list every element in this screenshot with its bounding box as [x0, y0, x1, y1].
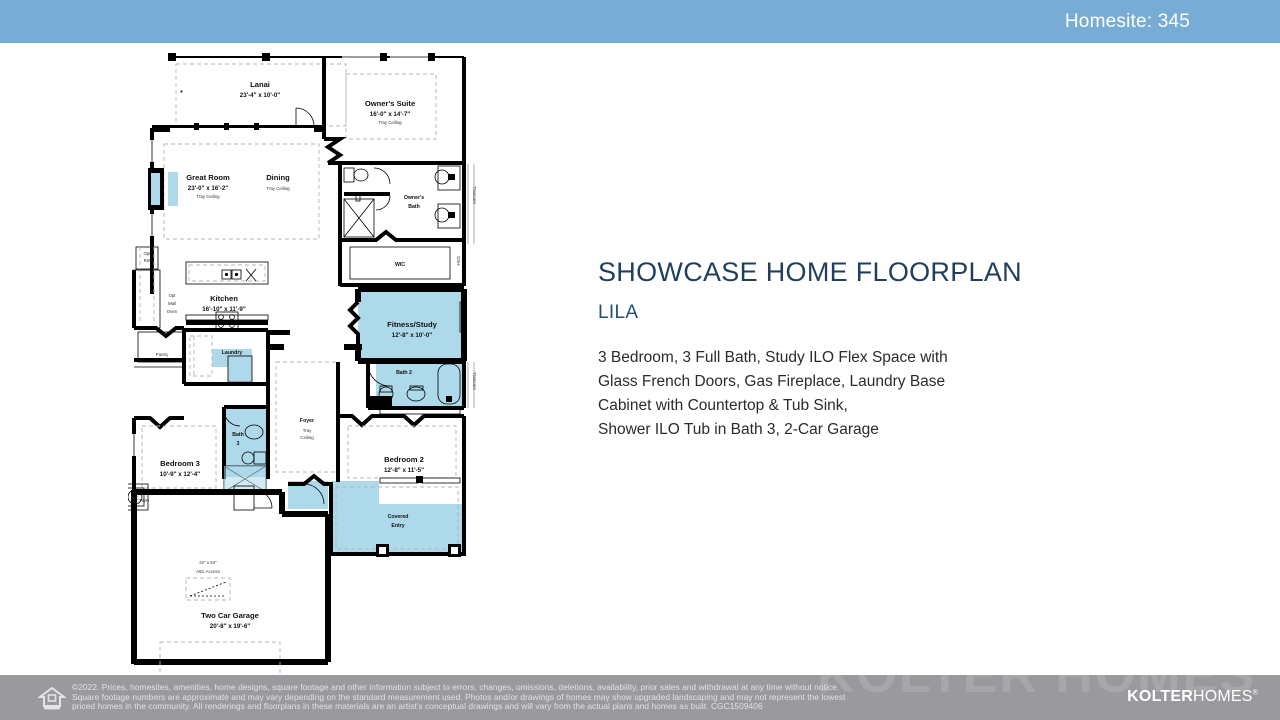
- room-label-bath2: Bath 2: [396, 370, 412, 376]
- opt-oven-label-3: Oven: [167, 309, 178, 314]
- room-label-dining: Dining: [266, 173, 290, 182]
- info-panel: SHOWCASE HOME FLOORPLAN LILA 3 Bedroom, …: [598, 258, 1068, 442]
- room-dims-owners-suite: 16'-0" x 14'-7": [370, 111, 411, 118]
- room-label-bedroom2: Bedroom 2: [384, 455, 424, 464]
- covered-entry-label-1: Covered: [388, 514, 409, 520]
- floorplan-svg: .w { stroke:#000; fill:none; } .w6 { str…: [128, 44, 478, 674]
- brand-homes: HOMES: [1193, 688, 1253, 705]
- room-label-wic: WIC: [395, 262, 405, 268]
- room-label-owners-bath-1: Owner's: [404, 195, 424, 201]
- transom-label-bottom: Transom: [472, 372, 477, 390]
- room-label-bath3-1: Bath: [232, 432, 244, 438]
- room-label-bedroom3: Bedroom 3: [160, 459, 200, 468]
- ssh-label: SSH: [456, 256, 461, 265]
- room-label-bath3-2: 3: [237, 441, 240, 447]
- header-bar: Homesite: 345: [0, 0, 1280, 43]
- room-dims-lanai: 23'-4" x 10'-0": [240, 92, 281, 99]
- room-label-laundry: Laundry: [222, 350, 243, 356]
- room-dims-bedroom2: 12'-8" x 11'-5": [384, 467, 424, 474]
- plan-description: 3 Bedroom, 3 Full Bath, Study ILO Flex S…: [598, 346, 1068, 442]
- room-dims-bedroom3: 10'-9" x 12'-4": [160, 471, 201, 478]
- equal-housing-opportunity-icon: [38, 686, 66, 710]
- room-label-foyer: Foyer: [300, 418, 314, 424]
- room-note-foyer-2: Ceiling: [300, 435, 314, 440]
- attic-dims-label: 22" x 54": [199, 560, 217, 565]
- room-label-pantry: Pantry: [156, 352, 169, 357]
- floorplan-slide: Homesite: 345 .w { stroke:#000; fill:non…: [0, 0, 1280, 720]
- room-note-great-room: Tray Ceiling: [196, 194, 220, 199]
- covered-entry-label-2: Entry: [391, 523, 404, 529]
- room-label-garage: Two Car Garage: [201, 611, 259, 620]
- brand-registered-mark: ®: [1253, 690, 1258, 697]
- room-note-owners-suite: Tray Ceiling: [378, 120, 402, 125]
- room-dims-garage: 20'-8" x 19'-6": [210, 623, 251, 630]
- homesite-label: Homesite: 345: [1065, 11, 1190, 33]
- opt-ref-label-1: Opt: [143, 251, 151, 256]
- room-label-lanai: Lanai: [250, 80, 270, 89]
- opt-oven-label-1: Opt: [168, 293, 176, 298]
- room-dims-fitness-study: 12'-8" x 10'-0": [392, 332, 433, 339]
- room-dims-great-room: 23'-0" x 16'-2": [188, 185, 229, 192]
- plan-name: LILA: [598, 302, 1068, 324]
- room-label-fitness-study: Fitness/Study: [387, 320, 438, 329]
- room-label-owners-bath-2: Bath: [408, 204, 420, 210]
- opt-oven-label-2: Wall: [168, 301, 176, 306]
- room-label-kitchen: Kitchen: [210, 294, 238, 303]
- room-note-dining: Tray Ceiling: [266, 186, 290, 191]
- ac-unit-label: A/C: [131, 496, 138, 501]
- opt-ref-label-2: Ref: [144, 258, 152, 263]
- brand-kolter: KOLTER: [1127, 688, 1193, 705]
- footer-bar: KOLTER HOMES ©2022. Prices, homesites, a…: [0, 675, 1280, 720]
- footer-fineprint: ©2022. Prices, homesites, amenities, hom…: [72, 683, 1072, 712]
- room-label-owners-suite: Owner's Suite: [365, 99, 415, 108]
- kolter-homes-logo: KOLTERHOMES®: [1127, 688, 1258, 706]
- transom-label-top: Transom: [472, 186, 477, 204]
- page-title: SHOWCASE HOME FLOORPLAN: [598, 258, 1068, 288]
- floorplan-drawing: .w { stroke:#000; fill:none; } .w6 { str…: [128, 44, 478, 674]
- attic-access-label: Attic Access: [196, 569, 220, 574]
- room-label-great-room: Great Room: [186, 173, 230, 182]
- room-note-foyer-1: Tray: [303, 428, 312, 433]
